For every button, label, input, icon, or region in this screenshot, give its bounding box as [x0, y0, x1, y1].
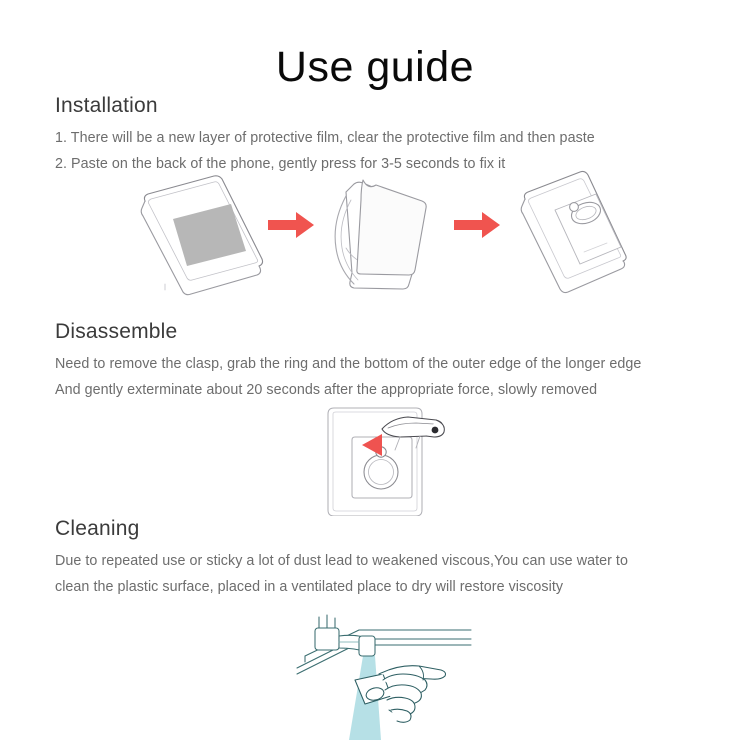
use-guide-page: Use guide Installation 1. There will be … — [0, 0, 750, 750]
disassemble-line-1: Need to remove the clasp, grab the ring … — [55, 351, 715, 377]
arrow-right-1 — [268, 212, 314, 238]
cleaning-line-1: Due to repeated use or sticky a lot of d… — [55, 548, 715, 574]
installation-diagram — [118, 166, 648, 296]
section-installation: Installation 1. There will be a new laye… — [55, 93, 715, 177]
section-heading-installation: Installation — [55, 93, 715, 119]
cleaning-diagram — [295, 612, 475, 747]
phone-with-ring-holder-attached — [521, 171, 626, 292]
arrow-right-2 — [454, 212, 500, 238]
disassemble-line-2: And gently exterminate about 20 seconds … — [55, 377, 715, 403]
section-heading-cleaning: Cleaning — [55, 516, 715, 542]
disassemble-diagram — [296, 406, 466, 516]
hand — [379, 666, 446, 723]
phone-with-protective-film-peeled — [335, 180, 426, 289]
section-disassemble: Disassemble Need to remove the clasp, gr… — [55, 319, 715, 403]
cleaning-line-2: clean the plastic surface, placed in a v… — [55, 574, 715, 600]
section-cleaning: Cleaning Due to repeated use or sticky a… — [55, 516, 715, 600]
installation-line-1: 1. There will be a new layer of protecti… — [55, 125, 715, 151]
section-heading-disassemble: Disassemble — [55, 319, 715, 345]
page-title: Use guide — [0, 43, 750, 92]
